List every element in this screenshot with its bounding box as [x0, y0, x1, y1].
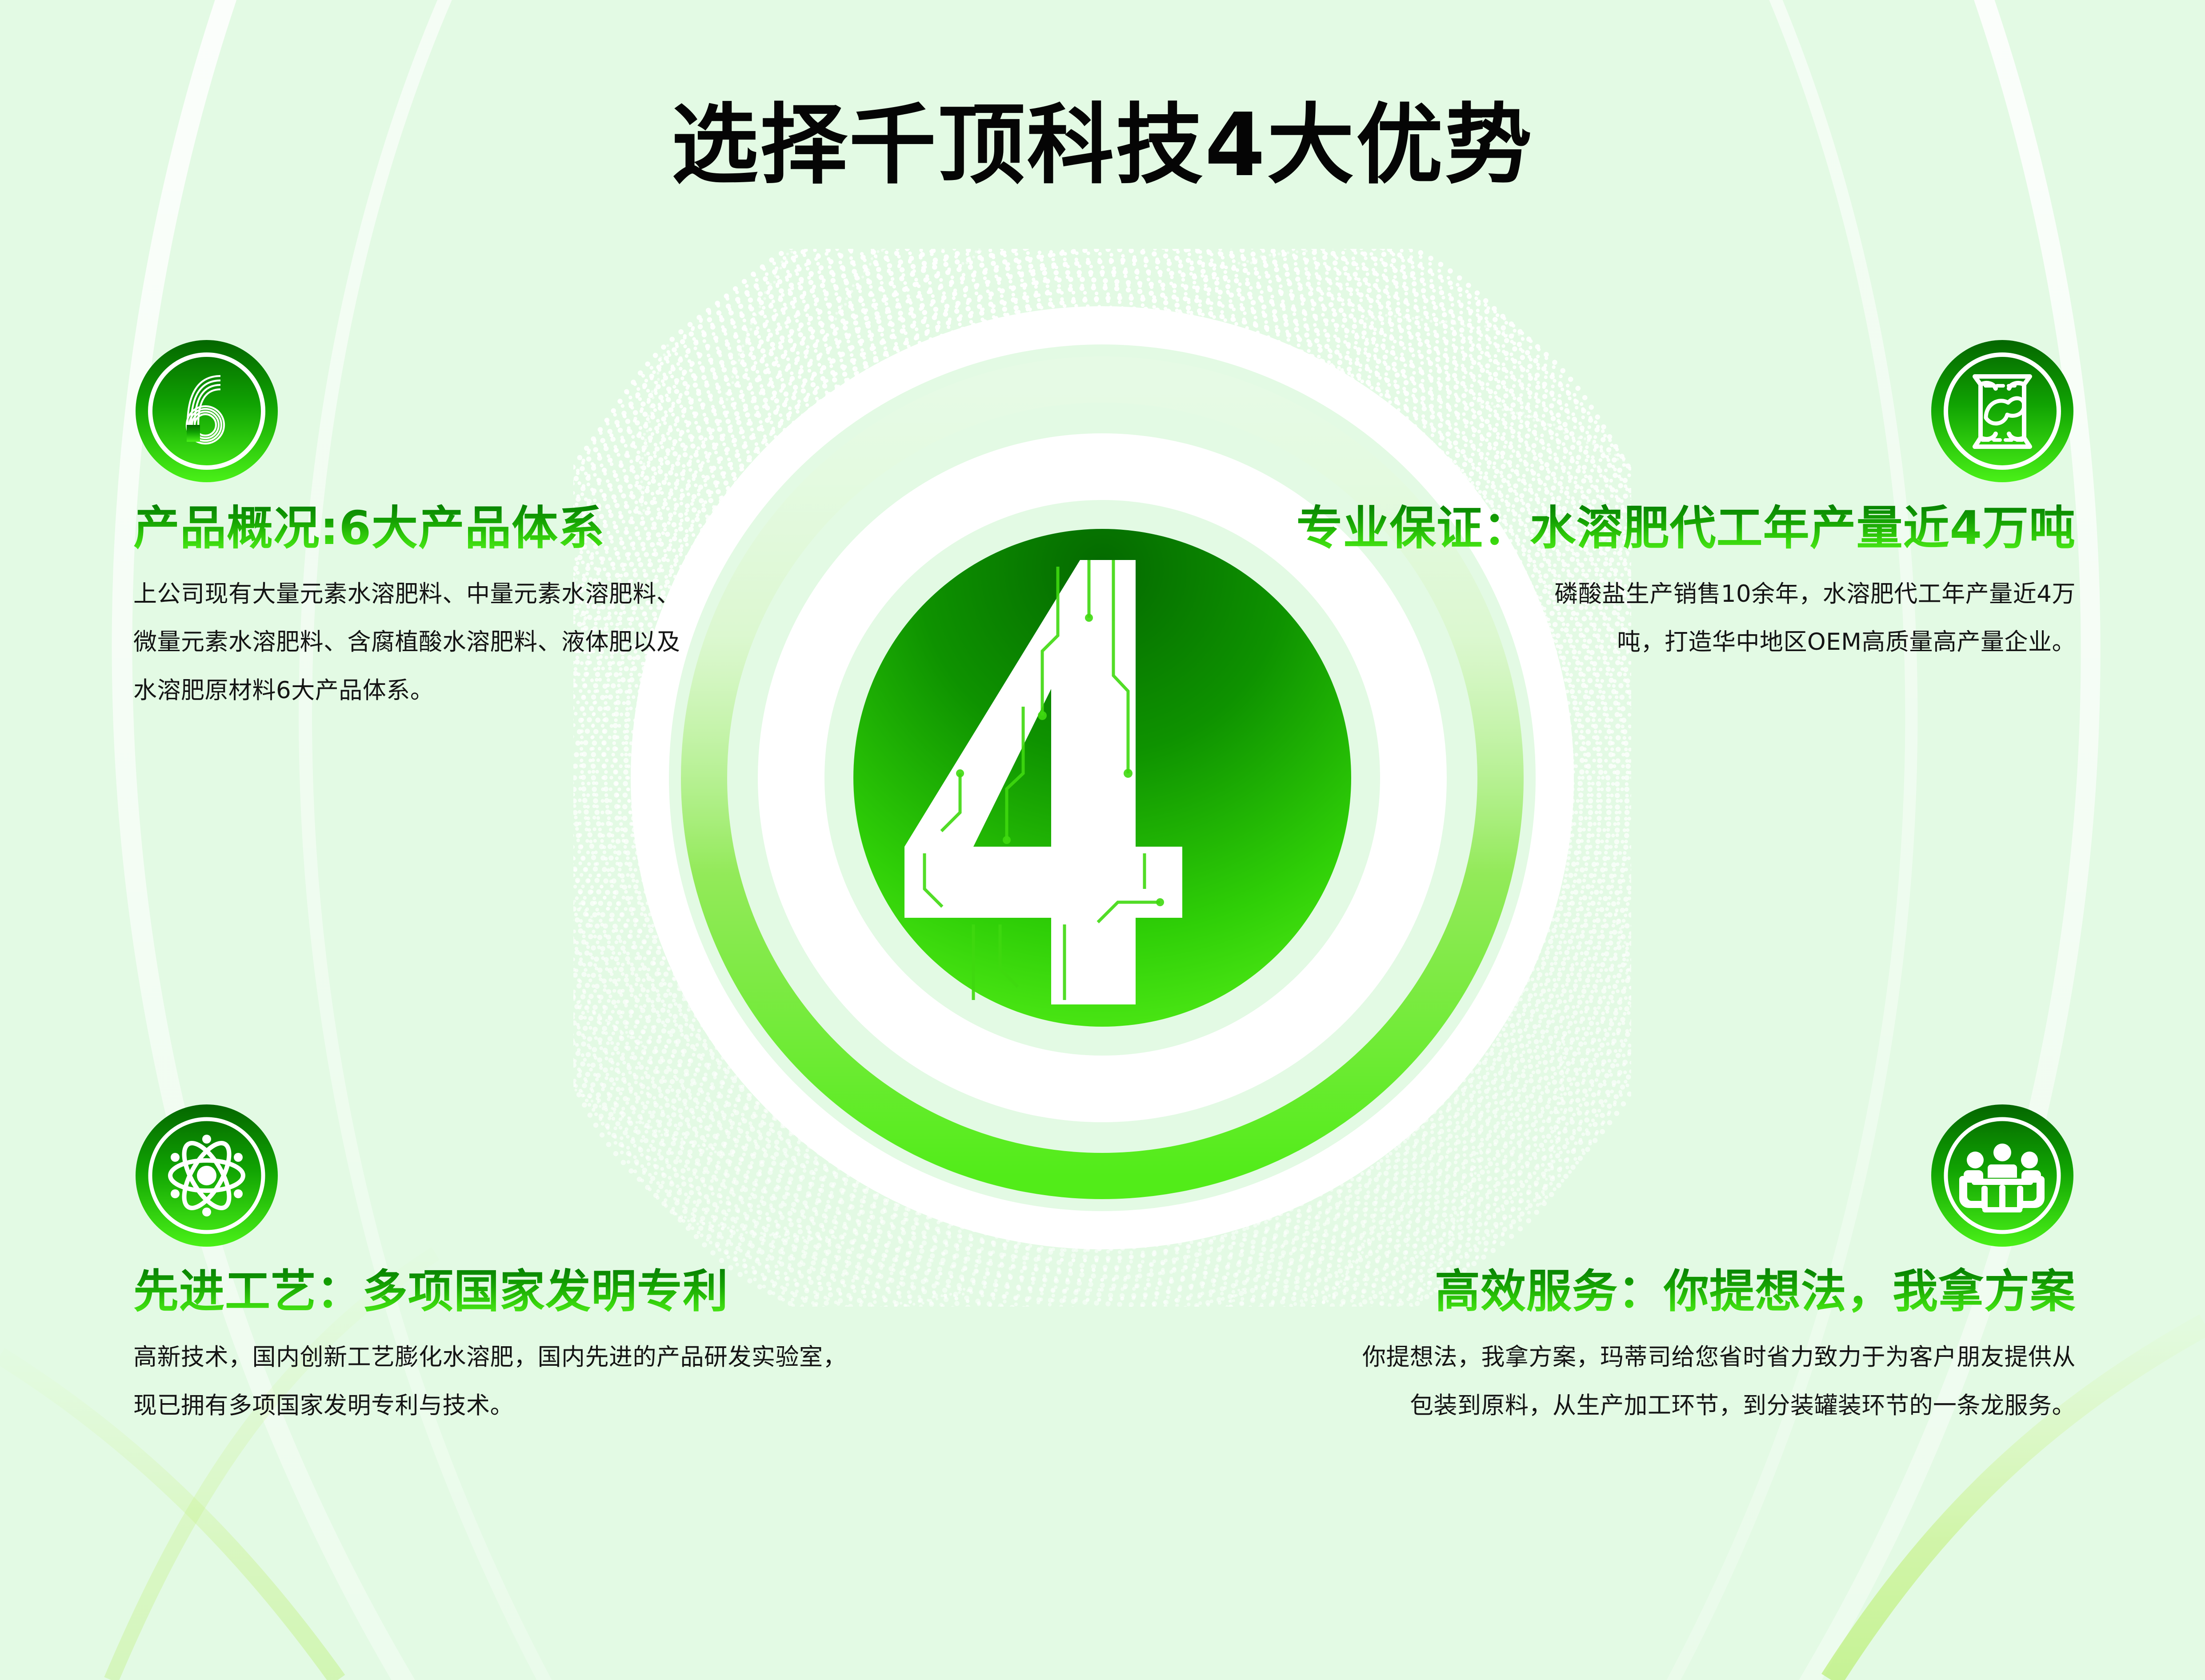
atom-icon[interactable] [133, 1102, 280, 1249]
infographic-canvas: 选择千顶科技4大优势 产品概况:6大产品体系 上公司现有大量元素水溶肥料、中量元… [0, 0, 2205, 1680]
section-top-right: 专业保证：水溶肥代工年产量近4万吨 磷酸盐生产销售10余年，水溶肥代工年产量近4… [1187, 338, 2076, 667]
section-body: 你提想法，我拿方案，玛蒂司给您省时省力致力于为客户朋友提供从包装到原料，从生产加… [1347, 1333, 2076, 1430]
section-heading: 产品概况:6大产品体系 [133, 501, 707, 555]
section-bottom-left: 先进工艺：多项国家发明专利 高新技术，国内创新工艺膨化水溶肥，国内先进的产品研发… [133, 1102, 889, 1430]
fertilizer-bag-icon[interactable] [1929, 338, 2076, 484]
meeting-table-icon[interactable] [1929, 1102, 2076, 1249]
section-heading: 专业保证：水溶肥代工年产量近4万吨 [1187, 501, 2076, 555]
section-heading: 高效服务：你提想法，我拿方案 [1325, 1266, 2076, 1318]
section-bottom-right: 高效服务：你提想法，我拿方案 你提想法，我拿方案，玛蒂司给您省时省力致力于为客户… [1325, 1102, 2076, 1430]
six-spiral-icon[interactable] [133, 338, 280, 484]
section-body: 上公司现有大量元素水溶肥料、中量元素水溶肥料、微量元素水溶肥料、含腐植酸水溶肥料… [133, 570, 684, 715]
section-heading: 先进工艺：多项国家发明专利 [133, 1266, 889, 1318]
section-top-left: 产品概况:6大产品体系 上公司现有大量元素水溶肥料、中量元素水溶肥料、微量元素水… [133, 338, 707, 715]
section-body: 高新技术，国内创新工艺膨化水溶肥，国内先进的产品研发实验室，现已拥有多项国家发明… [133, 1333, 862, 1430]
page-title: 选择千顶科技4大优势 [0, 100, 2205, 192]
section-body: 磷酸盐生产销售10余年，水溶肥代工年产量近4万吨，打造华中地区OEM高质量高产量… [1533, 570, 2076, 667]
